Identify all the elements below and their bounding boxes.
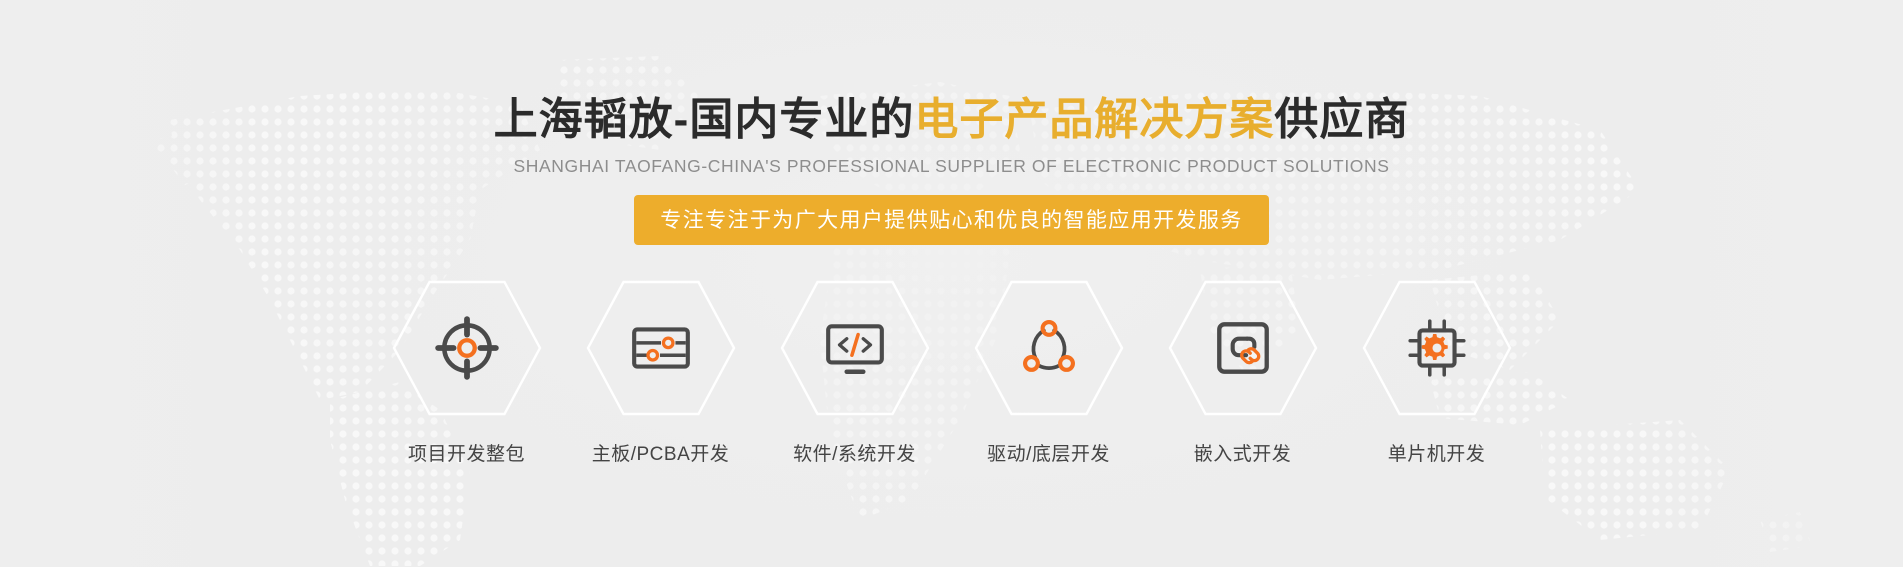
crosshair-target-icon xyxy=(434,315,500,381)
service-list: 项目开发整包 xyxy=(370,279,1534,466)
hexagon-frame xyxy=(586,279,736,417)
headline-part-2: 供应商 xyxy=(1274,95,1409,144)
page-subtitle: SHANGHAI TAOFANG-CHINA'S PROFESSIONAL SU… xyxy=(513,156,1389,177)
service-label: 单片机开发 xyxy=(1388,439,1486,466)
hexagon-frame xyxy=(1168,279,1318,417)
monitor-code-icon xyxy=(822,315,888,381)
service-item-embedded[interactable]: 嵌入式开发 xyxy=(1146,279,1340,466)
service-label: 嵌入式开发 xyxy=(1194,439,1292,466)
service-label: 主板/PCBA开发 xyxy=(592,439,730,466)
service-label: 项目开发整包 xyxy=(408,439,525,466)
hexagon-frame xyxy=(974,279,1124,417)
network-nodes-icon xyxy=(1016,315,1082,381)
service-item-pcba[interactable]: 主板/PCBA开发 xyxy=(564,279,758,466)
service-label: 驱动/底层开发 xyxy=(987,439,1110,466)
hexagon-frame xyxy=(780,279,930,417)
tagline-badge: 专注专注于为广大用户提供贴心和优良的智能应用开发服务 xyxy=(634,195,1268,245)
pcb-board-icon xyxy=(628,315,694,381)
service-item-project-package[interactable]: 项目开发整包 xyxy=(370,279,564,466)
hexagon-frame xyxy=(392,279,542,417)
service-item-driver[interactable]: 驱动/底层开发 xyxy=(952,279,1146,466)
service-item-software[interactable]: 软件/系统开发 xyxy=(758,279,952,466)
headline-part-1: 上海韬放-国内专业的 xyxy=(494,95,915,144)
service-item-mcu[interactable]: 单片机开发 xyxy=(1340,279,1534,466)
hexagon-frame xyxy=(1362,279,1512,417)
page-title: 上海韬放-国内专业的电子产品解决方案供应商 xyxy=(494,94,1410,146)
headline-highlight: 电子产品解决方案 xyxy=(914,95,1274,144)
microchip-gear-icon xyxy=(1404,315,1470,381)
embedded-link-icon xyxy=(1210,315,1276,381)
service-label: 软件/系统开发 xyxy=(793,439,916,466)
hero-banner: 上海韬放-国内专业的电子产品解决方案供应商 SHANGHAI TAOFANG-C… xyxy=(0,0,1903,567)
